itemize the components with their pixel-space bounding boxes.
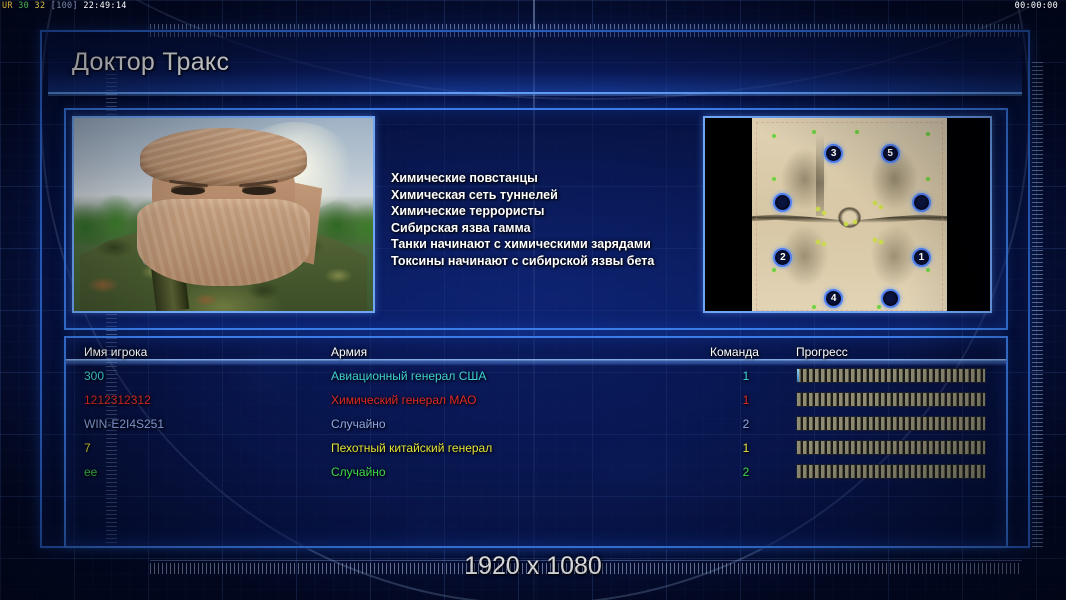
player-progress-marker — [797, 369, 799, 382]
minimap-resource-marker — [879, 240, 883, 244]
minimap-resource-marker — [772, 134, 776, 138]
player-army: Случайно — [331, 412, 386, 436]
player-name: ee — [84, 460, 97, 484]
player-name: 300 — [84, 364, 104, 388]
player-name: 7 — [84, 436, 91, 460]
player-army: Пехотный китайский генерал — [331, 436, 492, 460]
player-team: 2 — [716, 460, 776, 484]
portrait-eye-right — [242, 187, 276, 195]
player-name: 1212312312 — [84, 388, 151, 412]
minimap-start-position[interactable] — [912, 193, 931, 212]
description-line: Токсины начинают с сибирской язвы бета — [391, 253, 691, 270]
fps-prefix: UR — [2, 1, 13, 11]
portrait-eye-left — [171, 187, 205, 195]
player-progress-bar — [796, 392, 986, 407]
player-army: Случайно — [331, 460, 386, 484]
column-header-team: Команда — [710, 340, 759, 364]
minimap-resource-marker — [873, 201, 877, 205]
page-title: Доктор Тракс — [72, 48, 229, 77]
column-header-army: Армия — [331, 340, 367, 364]
table-header-row: Имя игрока Армия Команда Прогресс — [64, 340, 1008, 364]
player-progress-fill — [797, 441, 985, 454]
clock-right: 00:00:00 — [1015, 0, 1058, 13]
fps-counter: UR 30 32 [100] 22:49:14 — [2, 0, 127, 13]
minimap-resource-marker — [772, 268, 776, 272]
minimap-start-position[interactable]: 3 — [824, 144, 843, 163]
player-progress-fill — [797, 369, 985, 382]
minimap-resource-marker — [772, 177, 776, 181]
general-portrait — [72, 116, 375, 313]
minimap-resource-marker — [926, 268, 930, 272]
table-row[interactable]: WIN-E2I4S251Случайно2 — [64, 412, 1008, 436]
table-row[interactable]: 300Авиационный генерал США1 — [64, 364, 1008, 388]
description-line: Химические террористы — [391, 203, 691, 220]
resolution-label: 1920 x 1080 — [0, 552, 1066, 581]
player-team: 1 — [716, 388, 776, 412]
minimap-resource-marker — [879, 205, 883, 209]
player-table: Имя игрока Армия Команда Прогресс 300Ави… — [64, 340, 1008, 484]
minimap-resource-marker — [877, 305, 881, 309]
portrait-facemask — [137, 199, 310, 286]
player-team: 1 — [716, 364, 776, 388]
description-line: Химические повстанцы — [391, 170, 691, 187]
player-progress-fill — [797, 465, 985, 478]
minimap-resource-marker — [822, 211, 826, 215]
column-header-name: Имя игрока — [84, 340, 147, 364]
minimap-start-position[interactable]: 5 — [881, 144, 900, 163]
player-progress-fill — [797, 393, 985, 406]
minimap-boundary — [756, 122, 943, 311]
table-row[interactable]: eeСлучайно2 — [64, 460, 1008, 484]
minimap-start-position[interactable] — [881, 289, 900, 308]
player-progress-fill — [797, 417, 985, 430]
table-row[interactable]: 1212312312Химический генерал МАО1 — [64, 388, 1008, 412]
minimap-resource-marker — [926, 177, 930, 181]
minimap-terrain: 35214 — [752, 118, 947, 313]
fps-value-a: 30 — [18, 1, 29, 11]
column-header-progress: Прогресс — [796, 340, 848, 364]
ruler-right — [1032, 62, 1043, 550]
player-progress-bar — [796, 464, 986, 479]
description-line: Сибирская язва гамма — [391, 220, 691, 237]
faction-description: Химические повстанцы Химическая сеть тун… — [391, 170, 691, 270]
top-status-bar: UR 30 32 [100] 22:49:14 00:00:00 — [0, 0, 1066, 13]
description-line: Танки начинают с химическими зарядами — [391, 236, 691, 253]
fps-bracket: [100] — [51, 1, 78, 11]
description-line: Химическая сеть туннелей — [391, 187, 691, 204]
minimap-start-position[interactable]: 1 — [912, 248, 931, 267]
fps-value-b: 32 — [35, 1, 46, 11]
player-name: WIN-E2I4S251 — [84, 412, 164, 436]
player-progress-bar — [796, 368, 986, 383]
game-lobby-screen: UR 30 32 [100] 22:49:14 00:00:00 Доктор … — [0, 0, 1066, 600]
player-progress-bar — [796, 440, 986, 455]
portrait-headwrap — [140, 128, 307, 186]
player-team: 1 — [716, 436, 776, 460]
portrait-eyes — [167, 182, 281, 199]
player-army: Авиационный генерал США — [331, 364, 486, 388]
minimap-resource-marker — [926, 132, 930, 136]
player-army: Химический генерал МАО — [331, 388, 476, 412]
clock-left: 22:49:14 — [83, 1, 126, 11]
player-progress-bar — [796, 416, 986, 431]
minimap[interactable]: 35214 — [703, 116, 992, 313]
table-row[interactable]: 7Пехотный китайский генерал1 — [64, 436, 1008, 460]
player-team: 2 — [716, 412, 776, 436]
